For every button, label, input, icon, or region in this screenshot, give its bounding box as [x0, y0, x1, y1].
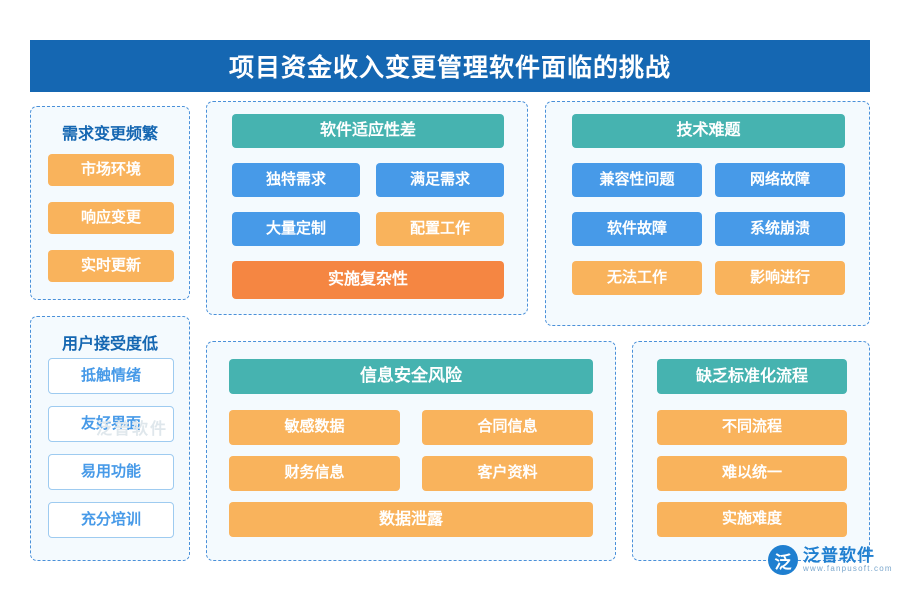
panel-acceptance: 用户接受度低 抵触情绪 友好界面 易用功能 充分培训	[30, 316, 190, 561]
box-network-failure[interactable]: 网络故障	[715, 163, 845, 197]
brand-logo: 泛 泛普软件 www.fanpusoft.com	[768, 545, 893, 575]
box-implementation-difficulty[interactable]: 实施难度	[657, 502, 847, 537]
box-configuration-work[interactable]: 配置工作	[376, 212, 504, 246]
logo-name-cn: 泛普软件	[803, 547, 893, 565]
box-financial-info[interactable]: 财务信息	[229, 456, 400, 491]
box-unique-requirement[interactable]: 独特需求	[232, 163, 360, 197]
diagram-canvas: 项目资金收入变更管理软件面临的挑战 需求变更频繁 市场环境 响应变更 实时更新 …	[0, 0, 900, 600]
box-system-crash[interactable]: 系统崩溃	[715, 212, 845, 246]
box-response-change[interactable]: 响应变更	[48, 202, 174, 234]
box-realtime-update[interactable]: 实时更新	[48, 250, 174, 282]
box-easy-function[interactable]: 易用功能	[48, 454, 174, 490]
box-adaptability-heading[interactable]: 软件适应性差	[232, 114, 504, 148]
box-implementation-complexity[interactable]: 实施复杂性	[232, 261, 504, 299]
box-data-leak[interactable]: 数据泄露	[229, 502, 593, 537]
box-affect-progress[interactable]: 影响进行	[715, 261, 845, 295]
panel-adaptability: 软件适应性差 独特需求 满足需求 大量定制 配置工作 实施复杂性	[206, 101, 528, 315]
box-meet-requirement[interactable]: 满足需求	[376, 163, 504, 197]
panel-acceptance-heading: 用户接受度低	[31, 330, 189, 354]
panel-requirement: 需求变更频繁 市场环境 响应变更 实时更新	[30, 106, 190, 300]
panel-technical: 技术难题 兼容性问题 网络故障 软件故障 系统崩溃 无法工作 影响进行	[545, 101, 870, 326]
box-software-failure[interactable]: 软件故障	[572, 212, 702, 246]
box-standardization-heading[interactable]: 缺乏标准化流程	[657, 359, 847, 394]
page-title: 项目资金收入变更管理软件面临的挑战	[229, 48, 671, 84]
diagram-title-bar: 项目资金收入变更管理软件面临的挑战	[30, 40, 870, 92]
box-friendly-ui[interactable]: 友好界面	[48, 406, 174, 442]
box-cannot-work[interactable]: 无法工作	[572, 261, 702, 295]
box-security-heading[interactable]: 信息安全风险	[229, 359, 593, 394]
panel-security: 信息安全风险 敏感数据 合同信息 财务信息 客户资料 数据泄露	[206, 341, 616, 561]
box-hard-to-unify[interactable]: 难以统一	[657, 456, 847, 491]
logo-name-en: www.fanpusoft.com	[803, 565, 893, 573]
box-resistance[interactable]: 抵触情绪	[48, 358, 174, 394]
box-mass-customization[interactable]: 大量定制	[232, 212, 360, 246]
box-contract-info[interactable]: 合同信息	[422, 410, 593, 445]
panel-standardization: 缺乏标准化流程 不同流程 难以统一 实施难度	[632, 341, 870, 561]
box-technical-heading[interactable]: 技术难题	[572, 114, 845, 148]
box-customer-data[interactable]: 客户资料	[422, 456, 593, 491]
box-market-environment[interactable]: 市场环境	[48, 154, 174, 186]
panel-requirement-heading: 需求变更频繁	[31, 120, 189, 144]
logo-text: 泛普软件 www.fanpusoft.com	[803, 547, 893, 573]
box-compatibility-issue[interactable]: 兼容性问题	[572, 163, 702, 197]
box-different-process[interactable]: 不同流程	[657, 410, 847, 445]
logo-mark-icon: 泛	[768, 545, 798, 575]
box-sufficient-training[interactable]: 充分培训	[48, 502, 174, 538]
box-sensitive-data[interactable]: 敏感数据	[229, 410, 400, 445]
